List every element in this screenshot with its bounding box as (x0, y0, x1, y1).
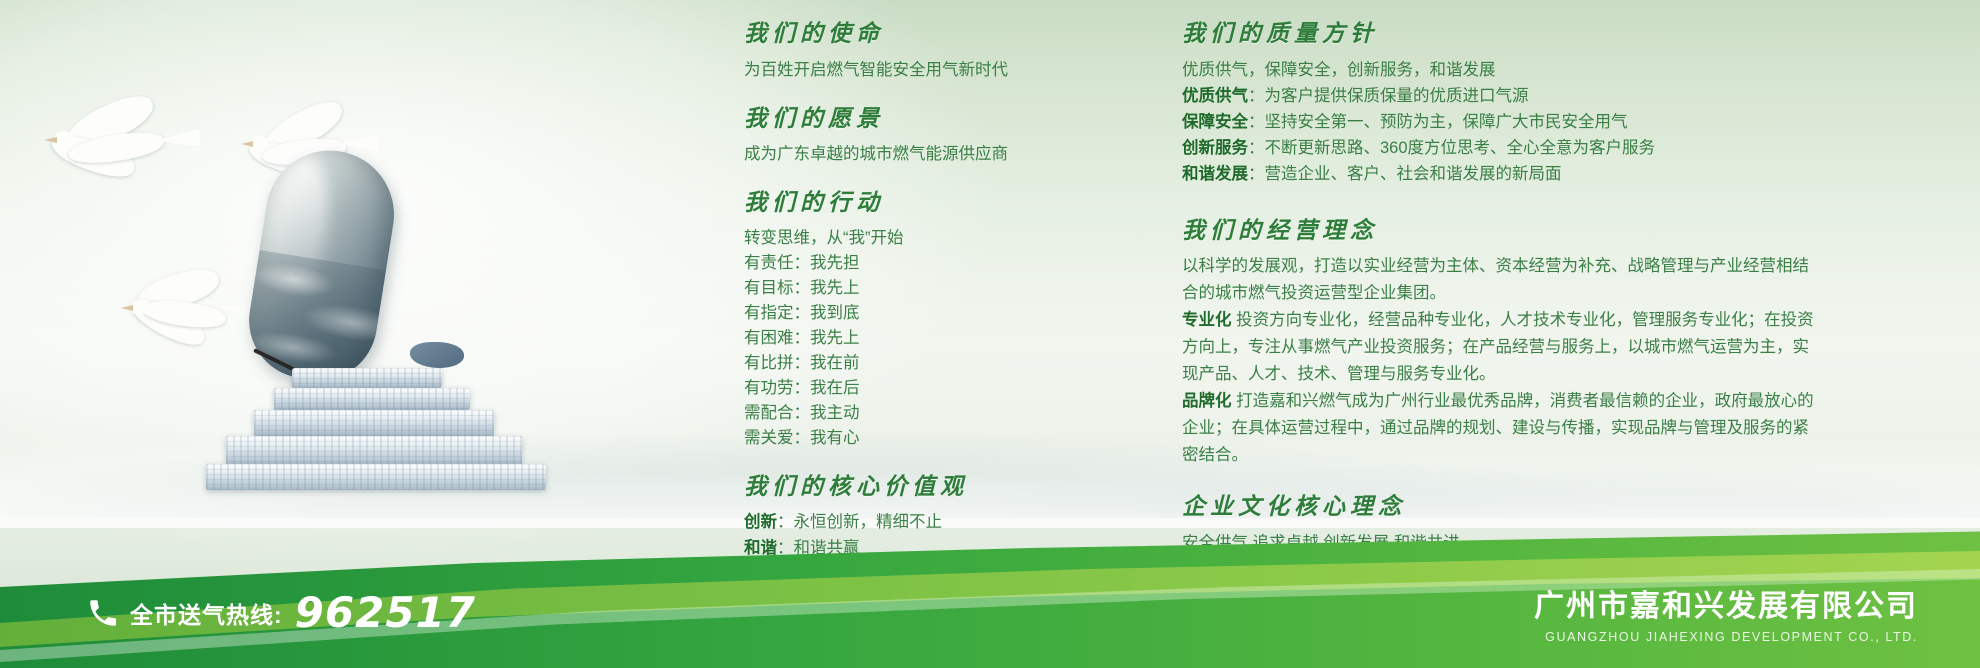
business-philosophy-text: 打造嘉和兴燃气成为广州行业最优秀品牌，消费者最信赖的企业，政府最放心的企业；在具… (1182, 392, 1814, 464)
sundial-base (240, 360, 540, 480)
sundial-disc (241, 141, 403, 388)
quality-policy-text: 为客户提供保质保量的优质进口气源 (1265, 87, 1529, 105)
core-values-title: 我们的核心价值观 (744, 473, 1074, 501)
quality-policy-item: 和谐发展：营造企业、客户、社会和谐发展的新局面 (1182, 161, 1822, 187)
phone-icon (86, 596, 120, 630)
right-text-column: 我们的质量方针 优质供气，保障安全，创新服务，和谐发展 优质供气：为客户提供保质… (1182, 20, 1822, 578)
quality-policy-text: 不断更新思路、360度方位思考、全心全意为客户服务 (1265, 139, 1656, 157)
quality-policy-item: 优质供气：为客户提供保质保量的优质进口气源 (1182, 83, 1822, 109)
quality-policy-key: 创新服务 (1182, 139, 1248, 157)
quality-policy-text: 营造企业、客户、社会和谐发展的新局面 (1265, 165, 1562, 183)
mission-title: 我们的使命 (744, 20, 1074, 48)
quality-policy-title: 我们的质量方针 (1182, 20, 1822, 48)
company-name-cn: 广州市嘉和兴发展有限公司 (1534, 588, 1918, 626)
quality-policy-key: 优质供气 (1182, 87, 1248, 105)
mission-block: 我们的使命 为百姓开启燃气智能安全用气新时代 (744, 20, 1074, 83)
quality-policy-key: 和谐发展 (1182, 165, 1248, 183)
quality-policy-sep: ： (1248, 165, 1265, 183)
business-philosophy-block: 我们的经营理念 以科学的发展观，打造以实业经营为主体、资本经营为补充、战略管理与… (1182, 217, 1822, 470)
quality-policy-item: 保障安全：坚持安全第一、预防为主，保障广大市民安全用气 (1182, 109, 1822, 135)
action-item: 有困难：我先上 (744, 326, 1074, 351)
dove-icon (110, 272, 260, 348)
vision-line: 成为广东卓越的城市燃气能源供应商 (744, 141, 1074, 167)
business-philosophy-intro: 以科学的发展观，打造以实业经营为主体、资本经营为补充、战略管理与产业经营相结合的… (1182, 253, 1822, 307)
hotline-label: 全市送气热线: (130, 596, 283, 630)
quality-policy-text: 坚持安全第一、预防为主，保障广大市民安全用气 (1265, 113, 1628, 131)
business-philosophy-text: 投资方向专业化，经营品种专业化，人才技术专业化，管理服务专业化；在投资方向上，专… (1182, 311, 1814, 383)
action-item: 需关爱：我有心 (744, 426, 1074, 451)
business-philosophy-title: 我们的经营理念 (1182, 217, 1822, 245)
action-item: 有比拼：我在前 (744, 351, 1074, 376)
action-item: 有指定：我到底 (744, 301, 1074, 326)
action-item: 有功劳：我在后 (744, 376, 1074, 401)
dove-icon (30, 105, 200, 183)
action-item: 有目标：我先上 (744, 276, 1074, 301)
quality-policy-key: 保障安全 (1182, 113, 1248, 131)
action-intro: 转变思维，从“我”开始 (744, 226, 1074, 251)
stone-sundial-sculpture (240, 150, 540, 480)
business-philosophy-key: 品牌化 (1182, 392, 1232, 410)
business-philosophy-key: 专业化 (1182, 311, 1232, 329)
quality-policy-sep: ： (1248, 139, 1265, 157)
vision-block: 我们的愿景 成为广东卓越的城市燃气能源供应商 (744, 105, 1074, 168)
company-name-en: GUANGZHOU JIAHEXING DEVELOPMENT CO., LTD… (1534, 630, 1918, 644)
artwork-area (0, 0, 560, 520)
business-philosophy-item: 品牌化 打造嘉和兴燃气成为广州行业最优秀品牌，消费者最信赖的企业，政府最放心的企… (1182, 388, 1822, 469)
footer-band: 全市送气热线: 962517 广州市嘉和兴发展有限公司 GUANGZHOU JI… (0, 518, 1980, 668)
quality-policy-block: 我们的质量方针 优质供气，保障安全，创新服务，和谐发展 优质供气：为客户提供保质… (1182, 20, 1822, 187)
mission-line: 为百姓开启燃气智能安全用气新时代 (744, 57, 1074, 83)
business-philosophy-item: 专业化 投资方向专业化，经营品种专业化，人才技术专业化，管理服务专业化；在投资方… (1182, 307, 1822, 388)
corporate-culture-poster: 我们的使命 为百姓开启燃气智能安全用气新时代 我们的愿景 成为广东卓越的城市燃气… (0, 0, 1980, 668)
hotline-number: 962517 (295, 592, 476, 634)
action-block: 我们的行动 转变思维，从“我”开始 有责任：我先担 有目标：我先上 有指定：我到… (744, 189, 1074, 451)
action-item: 需配合：我主动 (744, 401, 1074, 426)
vision-title: 我们的愿景 (744, 105, 1074, 133)
quality-policy-sep: ： (1248, 87, 1265, 105)
action-title: 我们的行动 (744, 189, 1074, 217)
quality-policy-sep: ： (1248, 113, 1265, 131)
culture-core-title: 企业文化核心理念 (1182, 493, 1822, 521)
quality-policy-item: 创新服务：不断更新思路、360度方位思考、全心全意为客户服务 (1182, 135, 1822, 161)
quality-policy-summary: 优质供气，保障安全，创新服务，和谐发展 (1182, 57, 1822, 83)
action-item: 有责任：我先担 (744, 251, 1074, 276)
hotline-group: 全市送气热线: 962517 (86, 592, 476, 634)
company-identity: 广州市嘉和兴发展有限公司 GUANGZHOU JIAHEXING DEVELOP… (1534, 588, 1918, 645)
